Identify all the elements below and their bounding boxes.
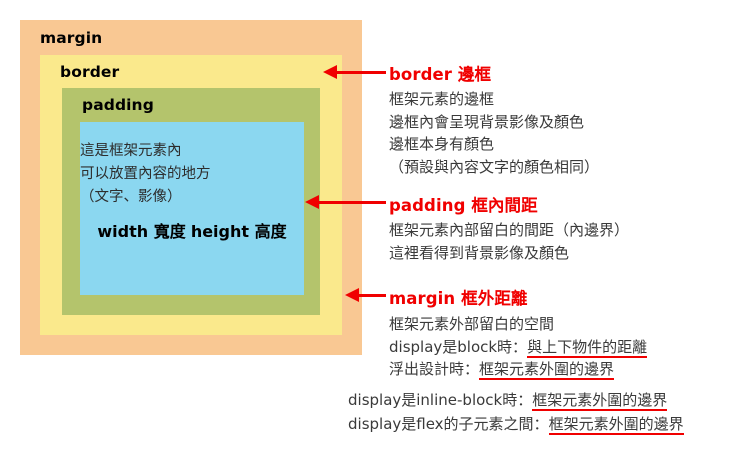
padding-layer-label: padding <box>82 96 154 114</box>
description-line: 這裡看得到背景影像及顏色 <box>389 242 629 265</box>
rule-emphasis: 框架元素外圍的邊界 <box>549 415 684 435</box>
description-line: 框架元素內部留白的間距（內邊界） <box>389 219 629 242</box>
description-rule: display是block時：與上下物件的距離 <box>389 336 647 359</box>
arrow-to-border-layer <box>336 71 386 74</box>
description-rule: 浮出設計時：框架元素外圍的邊界 <box>389 358 647 381</box>
description-line: 框架元素外部留白的空間 <box>389 313 647 336</box>
description-line: 框架元素的邊框 <box>389 88 599 111</box>
margin-layer-label: margin <box>40 29 102 47</box>
padding-layer: padding 這是框架元素內 可以放置內容的地方 （文字、影像） width … <box>62 88 320 315</box>
rule-prefix: display是block時： <box>389 338 527 356</box>
rule-emphasis: 框架元素外圍的邊界 <box>479 360 614 380</box>
content-line: 這是框架元素內 <box>80 143 182 159</box>
description-line: 邊框本身有顏色 <box>389 133 599 156</box>
description-line: 邊框內會呈現背景影像及顏色 <box>389 111 599 134</box>
content-width-label: width 寬度 <box>97 222 185 241</box>
arrow-to-margin-layer <box>358 294 386 297</box>
margin-layer: margin border padding 這是框架元素內 可以放置內容的地方 … <box>20 20 362 355</box>
extra-rules-block: display是inline-block時：框架元素外圍的邊界 display是… <box>348 388 684 436</box>
border-section-description: 框架元素的邊框 邊框內會呈現背景影像及顏色 邊框本身有顏色 （預設與內容文字的顏… <box>389 88 599 178</box>
content-line: 可以放置內容的地方 <box>80 166 211 182</box>
rule-prefix: display是inline-block時： <box>348 391 532 409</box>
content-line: （文字、影像） <box>80 189 182 205</box>
rule-emphasis: 框架元素外圍的邊界 <box>532 391 667 411</box>
padding-section-description: 框架元素內部留白的間距（內邊界） 這裡看得到背景影像及顏色 <box>389 219 629 264</box>
description-rule: display是inline-block時：框架元素外圍的邊界 <box>348 388 684 412</box>
description-rule: display是flex的子元素之間：框架元素外圍的邊界 <box>348 412 684 436</box>
box-model-diagram: margin border padding 這是框架元素內 可以放置內容的地方 … <box>20 20 362 355</box>
description-line: （預設與內容文字的顏色相同） <box>389 156 599 179</box>
content-dimensions: width 寬度 height 高度 <box>97 220 286 244</box>
arrow-to-padding-layer <box>318 201 386 204</box>
border-section-heading: border 邊框 <box>389 61 491 85</box>
rule-prefix: 浮出設計時： <box>389 360 479 378</box>
content-description: 這是框架元素內 可以放置內容的地方 （文字、影像） <box>80 140 304 209</box>
margin-section-heading: margin 框外距離 <box>389 285 528 309</box>
border-layer-label: border <box>60 63 119 81</box>
border-layer: border padding 這是框架元素內 可以放置內容的地方 （文字、影像）… <box>40 55 342 335</box>
padding-section-heading: padding 框內間距 <box>389 192 538 216</box>
rule-emphasis: 與上下物件的距離 <box>527 338 647 358</box>
margin-section-description: 框架元素外部留白的空間 display是block時：與上下物件的距離 浮出設計… <box>389 313 647 381</box>
content-layer: 這是框架元素內 可以放置內容的地方 （文字、影像） width 寬度 heigh… <box>80 122 304 295</box>
content-height-label: height 高度 <box>191 222 287 241</box>
rule-prefix: display是flex的子元素之間： <box>348 415 549 433</box>
